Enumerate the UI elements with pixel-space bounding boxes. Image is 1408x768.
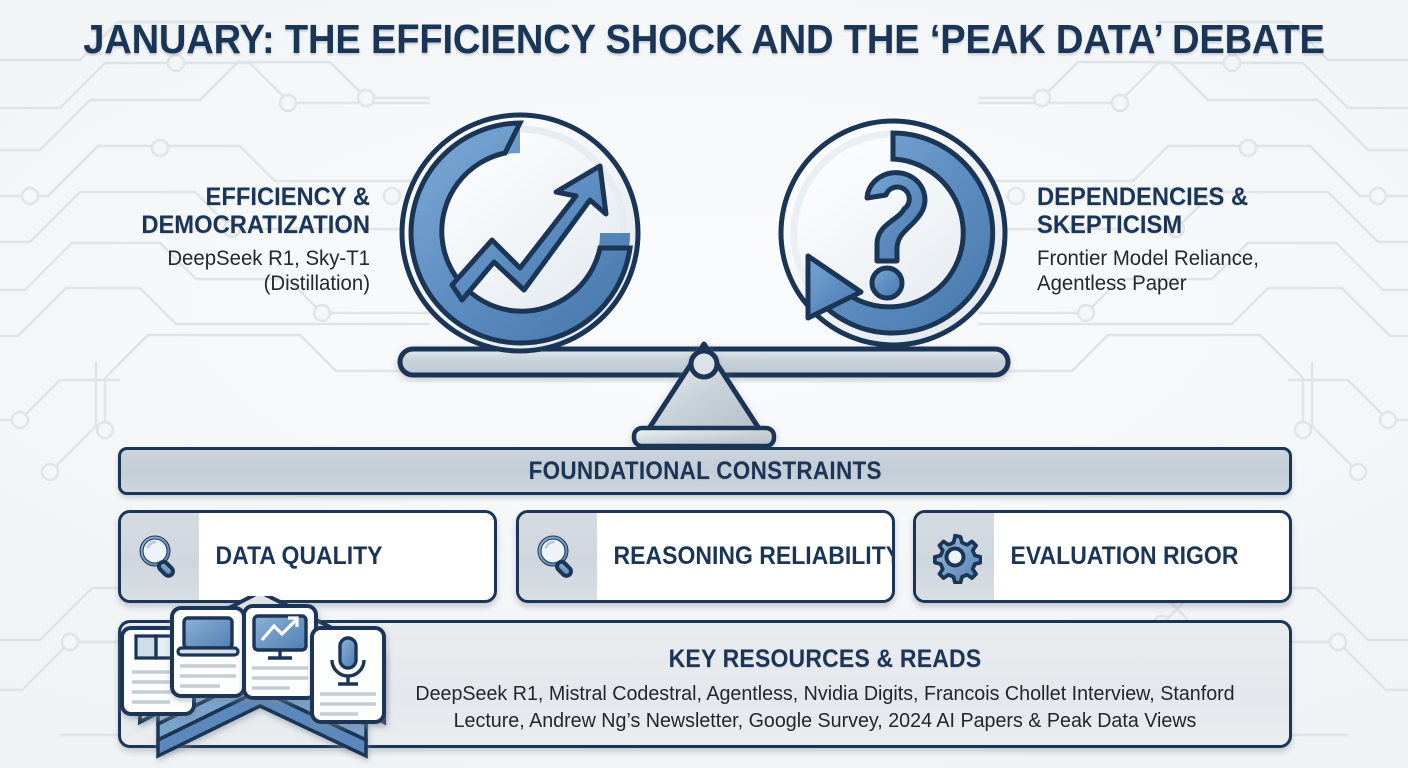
right-pan-label: DEPENDENCIES & SKEPTICISM Frontier Model… (1037, 183, 1337, 296)
magnifier-icon (134, 531, 186, 583)
constraint-label: REASONING RELIABILITY (597, 513, 895, 600)
foundational-constraints-bar: FOUNDATIONAL CONSTRAINTS (118, 447, 1292, 495)
magnifier-icon (532, 531, 584, 583)
question-cycle-icon (781, 121, 1005, 345)
left-pan-label: EFFICIENCY & DEMOCRATIZATION DeepSeek R1… (70, 183, 370, 296)
constraint-card-reasoning-reliability[interactable]: REASONING RELIABILITY (516, 510, 895, 603)
gear-icon (928, 530, 982, 584)
key-resources-heading: KEY RESOURCES & READS (426, 645, 1225, 674)
constraint-card-list: DATA QUALITY REASONING RELIABILITY (118, 510, 1292, 603)
constraint-label: DATA QUALITY (199, 513, 470, 600)
left-pan-heading: EFFICIENCY & DEMOCRATIZATION (85, 183, 370, 239)
constraint-label: EVALUATION RIGOR (994, 513, 1265, 600)
right-pan-subtitle: Frontier Model Reliance, Agentless Paper (1037, 246, 1328, 296)
foundational-constraints-label: FOUNDATIONAL CONSTRAINTS (528, 457, 881, 486)
key-resources-line-1: DeepSeek R1, Mistral Codestral, Agentles… (408, 680, 1241, 707)
gear-icon-container (916, 513, 994, 600)
constraint-card-data-quality[interactable]: DATA QUALITY (118, 510, 497, 603)
infographic-canvas: JANUARY: THE EFFICIENCY SHOCK AND THE ‘P… (0, 0, 1408, 768)
magnifier-icon-container (519, 513, 597, 600)
page-title: JANUARY: THE EFFICIENCY SHOCK AND THE ‘P… (49, 16, 1358, 63)
key-resources-panel: KEY RESOURCES & READS DeepSeek R1, Mistr… (118, 620, 1292, 748)
growth-arrow-cycle-icon (402, 115, 638, 351)
right-pan-heading: DEPENDENCIES & SKEPTICISM (1037, 183, 1322, 239)
left-pan-subtitle: DeepSeek R1, Sky-T1 (Distillation) (79, 246, 370, 296)
magnifier-icon-container (121, 513, 199, 600)
key-resources-line-2: Lecture, Andrew Ng’s Newsletter, Google … (408, 707, 1241, 734)
constraint-card-evaluation-rigor[interactable]: EVALUATION RIGOR (913, 510, 1292, 603)
